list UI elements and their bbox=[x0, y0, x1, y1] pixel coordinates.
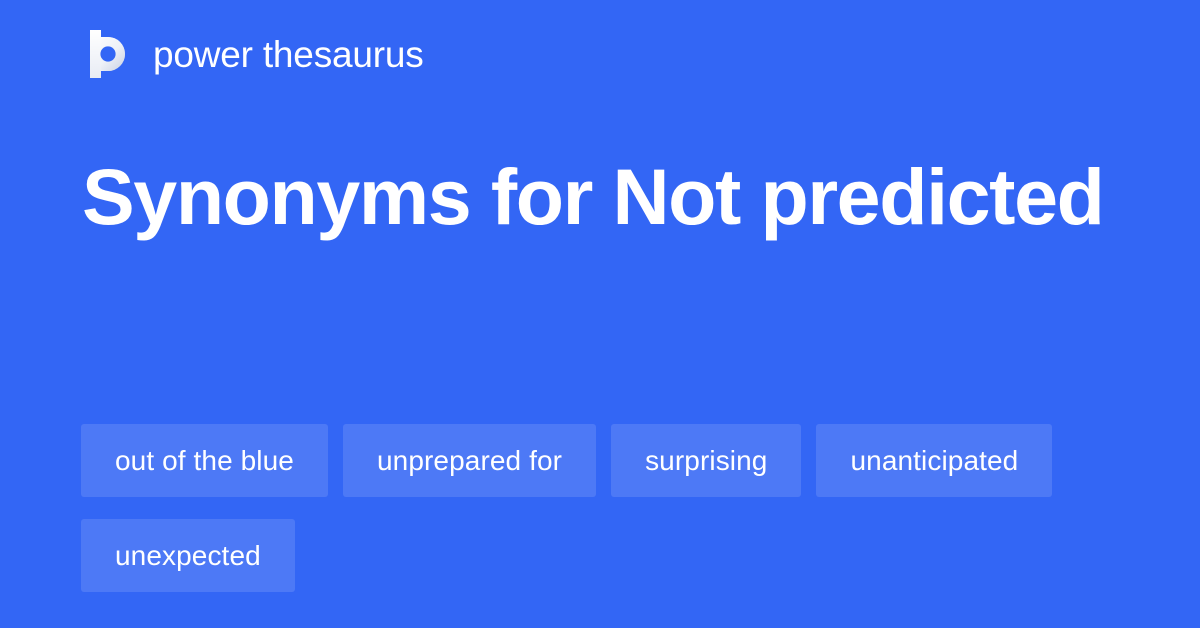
synonym-chip-list: out of the blue unprepared for surprisin… bbox=[81, 424, 1141, 592]
page-title: Synonyms for Not predicted bbox=[82, 142, 1122, 252]
synonym-chip[interactable]: surprising bbox=[611, 424, 801, 497]
brand-name: power thesaurus bbox=[153, 36, 424, 73]
brand-header[interactable]: power thesaurus bbox=[82, 28, 424, 80]
power-thesaurus-b-logo-icon bbox=[82, 28, 132, 80]
synonym-chip[interactable]: unexpected bbox=[81, 519, 295, 592]
synonym-chip[interactable]: unprepared for bbox=[343, 424, 596, 497]
synonym-chip[interactable]: unanticipated bbox=[816, 424, 1052, 497]
synonym-chip[interactable]: out of the blue bbox=[81, 424, 328, 497]
share-card: power thesaurus Synonyms for Not predict… bbox=[0, 0, 1200, 628]
